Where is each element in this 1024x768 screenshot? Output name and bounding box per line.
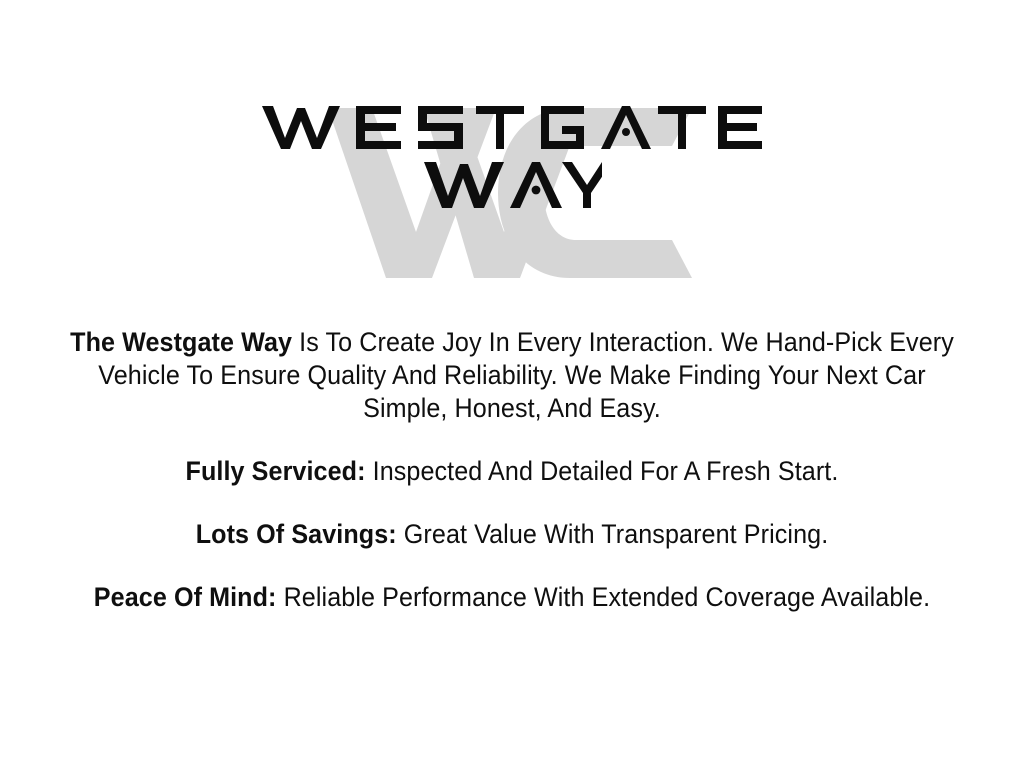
paragraph-3-lead: Lots Of Savings: xyxy=(196,519,397,549)
paragraph-4-rest: Reliable Performance With Extended Cover… xyxy=(277,582,931,612)
paragraph-fully-serviced: Fully Serviced: Inspected And Detailed F… xyxy=(36,455,988,488)
paragraph-4-lead: Peace Of Mind: xyxy=(94,582,277,612)
wordmark-line-westgate xyxy=(0,96,1024,152)
paragraph-2-rest: Inspected And Detailed For A Fresh Start… xyxy=(366,456,839,486)
paragraph-westgate-way: The Westgate Way Is To Create Joy In Eve… xyxy=(36,326,988,425)
paragraph-2-lead: Fully Serviced: xyxy=(186,456,366,486)
slide-root: The Westgate Way Is To Create Joy In Eve… xyxy=(0,0,1024,768)
paragraph-peace-of-mind: Peace Of Mind: Reliable Performance With… xyxy=(36,581,988,614)
paragraph-3-rest: Great Value With Transparent Pricing. xyxy=(397,519,829,549)
paragraph-lots-of-savings: Lots Of Savings: Great Value With Transp… xyxy=(36,518,988,551)
paragraph-1-lead: The Westgate Way xyxy=(70,327,292,357)
body-copy: The Westgate Way Is To Create Joy In Eve… xyxy=(0,326,1024,614)
wordmark xyxy=(0,96,1024,210)
wordmark-line-way xyxy=(0,154,1024,210)
logo-block xyxy=(0,96,1024,296)
